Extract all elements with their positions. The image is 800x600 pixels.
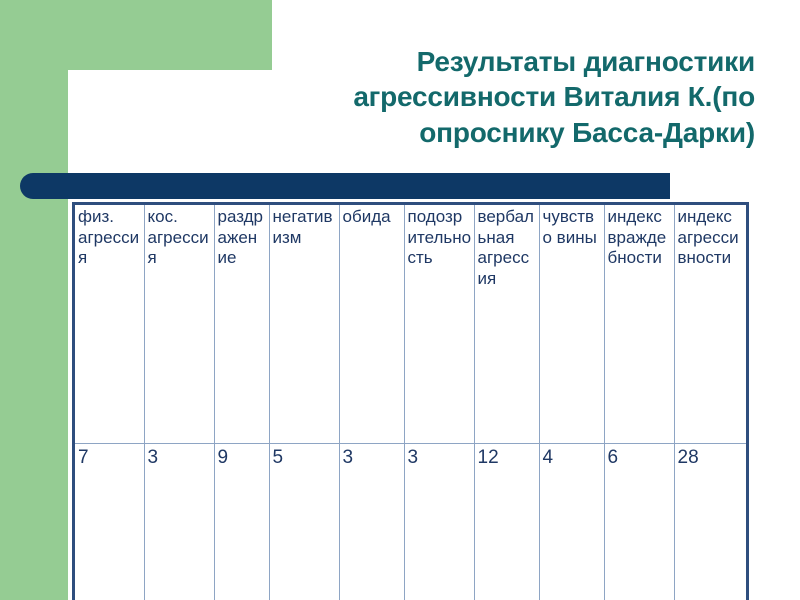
navy-divider-bar: [20, 173, 670, 199]
column-header-negativism: негативизм: [269, 204, 339, 444]
table-header-row: физ. агрессия кос. агрессия раздражение …: [74, 204, 747, 444]
cell-physical-aggression: 7: [74, 444, 144, 600]
slide-canvas: Результаты диагностики агрессивности Вит…: [0, 0, 800, 600]
cell-guilt: 4: [539, 444, 604, 600]
column-header-hostility-index: индекс враждебности: [604, 204, 674, 444]
slide-title: Результаты диагностики агрессивности Вит…: [250, 44, 755, 150]
cell-negativism: 5: [269, 444, 339, 600]
cell-indirect-aggression: 3: [144, 444, 214, 600]
column-header-indirect-aggression: кос. агрессия: [144, 204, 214, 444]
cell-aggressiveness-index: 28: [674, 444, 747, 600]
cell-irritation: 9: [214, 444, 269, 600]
column-header-suspicion: подозрительность: [404, 204, 474, 444]
results-table-container: физ. агрессия кос. агрессия раздражение …: [73, 203, 746, 600]
column-header-resentment: обида: [339, 204, 404, 444]
cell-suspicion: 3: [404, 444, 474, 600]
table-row: 7 3 9 5 3 3 12 4 6 28: [74, 444, 747, 600]
results-table: физ. агрессия кос. агрессия раздражение …: [73, 203, 748, 600]
column-header-irritation: раздражение: [214, 204, 269, 444]
green-decoration-left-strip: [0, 0, 68, 600]
column-header-aggressiveness-index: индекс агрессивности: [674, 204, 747, 444]
column-header-guilt: чувство вины: [539, 204, 604, 444]
column-header-verbal-aggression: вербальная агрессия: [474, 204, 539, 444]
column-header-physical-aggression: физ. агрессия: [74, 204, 144, 444]
cell-resentment: 3: [339, 444, 404, 600]
cell-hostility-index: 6: [604, 444, 674, 600]
cell-verbal-aggression: 12: [474, 444, 539, 600]
